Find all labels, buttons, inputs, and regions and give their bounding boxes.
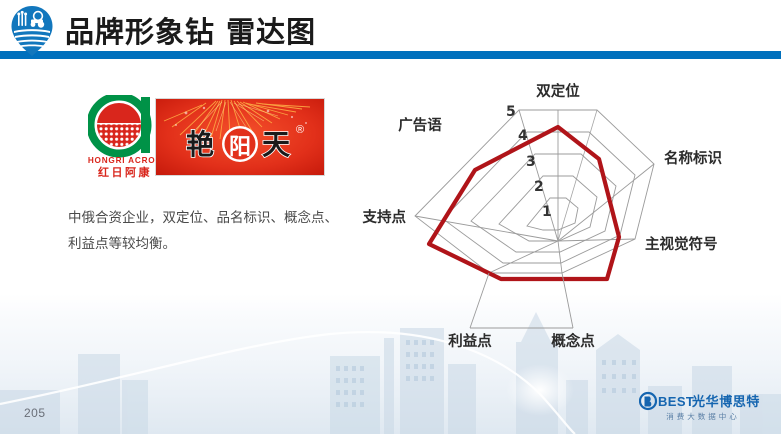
radar-axis-label-5: 支持点 [363,208,407,226]
radar-tick-5: 5 [506,104,516,120]
page-number: 205 [24,406,46,420]
best-mark-icon [640,393,656,409]
best-wordmark: BEST [658,394,694,409]
radar-axis-label-4: 利益点 [448,332,492,350]
radar-tick-4: 4 [518,128,528,144]
location-pin-agriculture-icon [9,5,55,57]
hongri-acron-logo: HONGRI ACRON 红日阿康 [88,95,164,179]
radar-bottom-leaders [470,273,573,328]
radar-axis-label-2: 主视觉符号 [645,235,718,253]
radar-series-polygon [429,127,619,279]
radar-ring-4 [443,132,635,263]
radar-axis-label-6: 广告语 [398,116,442,134]
slide-canvas: 品牌形象钻 雷达图 HONGRI ACRON [0,0,781,434]
slide-header: 品牌形象钻 雷达图 [0,0,781,58]
description-text: 中俄合资企业，双定位、品名标识、概念点、利益点等较均衡。 [68,205,348,257]
hongri-chinese-text: 红日阿康 [98,165,152,179]
yanyangtian-banner-logo: 艳 阳 天 ® [155,98,325,176]
left-content-panel: HONGRI ACRON 红日阿康 [60,95,360,181]
radar-axis-label-3: 概念点 [551,332,595,350]
yanyangtian-char-3: 天 [262,128,290,161]
registered-mark-icon: ® [296,124,304,136]
best-footer-logo: BEST 光华博思特 消费大数据中心 [639,390,767,424]
radar-axis-label-1: 名称标识 [664,149,722,167]
radar-tick-2: 2 [534,179,544,195]
header-divider-bar [0,51,781,59]
yanyangtian-char-2: 阳 [229,135,251,160]
radar-ring-1 [527,198,578,230]
footer-company-subtitle: 消费大数据中心 [666,411,740,421]
yanyangtian-char-1: 艳 [186,128,214,161]
logo-row: HONGRI ACRON 红日阿康 [60,95,360,181]
radar-ring-3 [471,154,616,252]
radar-axis-label-0: 双定位 [536,82,580,100]
radar-tick-3: 3 [526,154,536,170]
radar-chart: 5 4 3 2 1 双定位 名称标识 主视觉符号 概念点 利益点 支持点 广告语 [358,78,758,378]
page-title: 品牌形象钻 雷达图 [65,9,316,51]
footer-company-name: 光华博思特 [691,394,760,410]
radar-tick-1: 1 [542,204,552,220]
hongri-latin-text: HONGRI ACRON [88,156,162,165]
